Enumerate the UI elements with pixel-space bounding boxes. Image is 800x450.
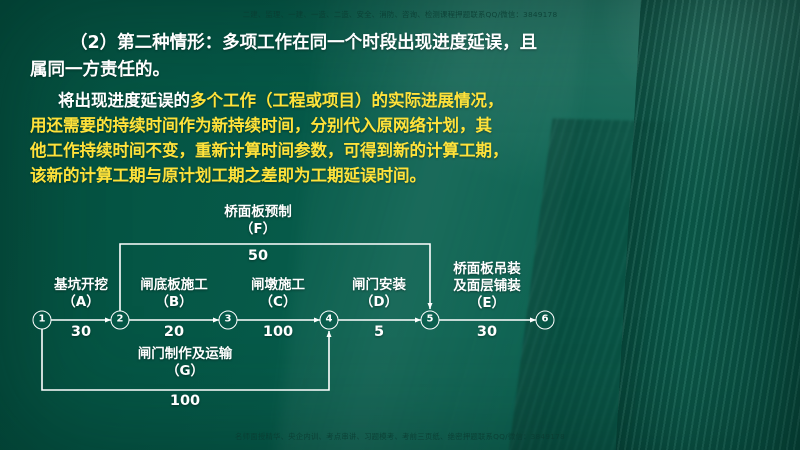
activity-B-code: （B） bbox=[155, 294, 192, 310]
activity-D-duration: 5 bbox=[374, 324, 384, 340]
activity-E-code: （E） bbox=[469, 295, 505, 311]
activity-A-name: 基坑开挖 bbox=[54, 277, 108, 293]
slide-heading: （2）第二种情形：多项工作在同一个时段出现进度延误，且 属同一方责任的。 bbox=[0, 30, 800, 84]
activity-D-name: 闸门安装 bbox=[352, 277, 406, 293]
heading-line-1: （2）第二种情形：多项工作在同一个时段出现进度延误，且 bbox=[70, 33, 537, 53]
bottom-promo-banner: 名师面授精华、央企内训、考点串讲、习题模考、考前三页纸、绝密押题联系QQ/微信：… bbox=[0, 431, 800, 442]
paragraph-line-2: 用还需要的持续时间作为新持续时间，分别代入原网络计划，其 bbox=[30, 116, 492, 135]
activity-G-code: （G） bbox=[166, 363, 204, 379]
activity-A-duration: 30 bbox=[71, 324, 91, 340]
activity-F-code: （F） bbox=[240, 221, 276, 237]
activity-G-name: 闸门制作及运输 bbox=[138, 346, 233, 362]
activity-C-name: 闸墩施工 bbox=[251, 277, 305, 293]
diagram-node-2: 2 bbox=[111, 311, 130, 330]
diagram-node-3: 3 bbox=[219, 311, 238, 330]
activity-F-name: 桥面板预制 bbox=[224, 204, 292, 220]
network-diagram: 1 2 3 4 5 6 基坑开挖 （A） 30 闸底板施工 （B） 20 闸墩施… bbox=[0, 205, 800, 420]
activity-C-code: （C） bbox=[260, 294, 297, 310]
paragraph-line-1-yellow: 多个工作（工程或项目）的实际进展情况， bbox=[190, 91, 504, 110]
activity-C-duration: 100 bbox=[263, 324, 293, 340]
paragraph-line-3: 他工作持续时间不变，重新计算时间参数，可得到新的计算工期， bbox=[30, 141, 509, 160]
activity-B-duration: 20 bbox=[164, 324, 184, 340]
activity-G-duration: 100 bbox=[170, 393, 200, 409]
diagram-node-1: 1 bbox=[33, 311, 52, 330]
paragraph-line-4: 该新的计算工期与原计划工期之差即为工期延误时间。 bbox=[30, 166, 426, 185]
heading-line-2: 属同一方责任的。 bbox=[30, 60, 170, 80]
activity-B-name: 闸底板施工 bbox=[140, 277, 208, 293]
slide-body-paragraph: 将出现进度延误的多个工作（工程或项目）的实际进展情况， 用还需要的持续时间作为新… bbox=[0, 88, 800, 188]
activity-E-duration: 30 bbox=[477, 324, 497, 340]
diagram-node-5: 5 bbox=[421, 311, 440, 330]
activity-A-code: （A） bbox=[62, 294, 99, 310]
activity-E-name: 桥面板吊装 bbox=[453, 261, 521, 277]
top-promo-banner: 二建、监理、一建、一造、二造、安全、消防、咨询、检测课程押题联系QQ/微信：38… bbox=[0, 9, 800, 20]
activity-D-code: （D） bbox=[360, 294, 398, 310]
slide-canvas: 二建、监理、一建、一造、二造、安全、消防、咨询、检测课程押题联系QQ/微信：38… bbox=[0, 0, 800, 450]
paragraph-line-1-white: 将出现进度延误的 bbox=[58, 91, 190, 110]
diagram-node-4: 4 bbox=[320, 311, 339, 330]
diagram-node-6: 6 bbox=[536, 311, 555, 330]
activity-E-name-2: 及面层铺装 bbox=[453, 278, 521, 294]
activity-F-duration: 50 bbox=[248, 248, 268, 264]
